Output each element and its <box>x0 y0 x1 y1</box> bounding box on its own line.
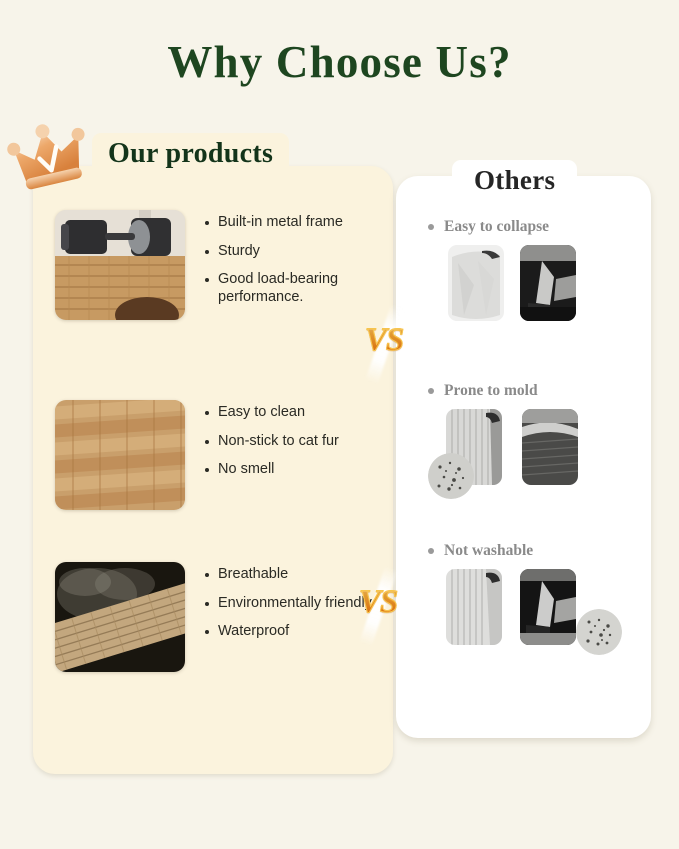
ribbed-grey-mat-photo <box>446 569 502 645</box>
our-row-2: Easy to clean Non-stick to cat fur No sm… <box>55 400 339 510</box>
list-item: Easy to clean <box>205 404 339 422</box>
other-row-2: Prone to mold <box>428 382 628 487</box>
bullet-dot <box>205 221 209 225</box>
bullet-dot <box>205 440 209 444</box>
our-row-2-bullets: Easy to clean Non-stick to cat fur No sm… <box>205 400 339 490</box>
list-item: Built-in metal frame <box>205 214 380 232</box>
list-item: Non-stick to cat fur <box>205 433 339 451</box>
other-row-1-heading: Easy to collapse <box>428 218 628 236</box>
others-banner: Others <box>452 160 577 203</box>
vs-badge-1: VS <box>352 308 416 380</box>
bullet-dot <box>205 278 209 282</box>
dark-textured-mat-photo <box>522 409 578 485</box>
bullet-dot <box>205 602 209 606</box>
bullet-dot <box>205 468 209 472</box>
our-row-1: Built-in metal frame Sturdy Good load-be… <box>55 210 380 320</box>
list-item: Good load-bearing performance. <box>205 271 380 306</box>
collapsed-dark-cube-photo <box>520 245 576 321</box>
other-row-2-heading: Prone to mold <box>428 382 628 400</box>
rattan-weave-closeup-photo <box>55 400 185 510</box>
list-item: Sturdy <box>205 243 380 261</box>
rattan-bed-with-dumbbell-photo <box>55 210 185 320</box>
dark-collapsed-cube-photo <box>520 569 576 645</box>
our-row-1-bullets: Built-in metal frame Sturdy Good load-be… <box>205 210 380 318</box>
vs-label: VS <box>346 584 410 621</box>
bullet-dot <box>205 630 209 634</box>
our-row-3: Breathable Environmentally friendly Wate… <box>55 562 372 672</box>
bullet-dot <box>205 573 209 577</box>
bullet-dot <box>428 224 434 230</box>
other-row-3-heading: Not washable <box>428 542 628 560</box>
vs-badge-2: VS <box>346 570 410 642</box>
other-row-1: Easy to collapse <box>428 218 628 323</box>
bullet-dot <box>428 548 434 554</box>
bullet-dot <box>428 388 434 394</box>
page-title: Why Choose Us? <box>0 36 679 88</box>
collapsed-fabric-bed-photo <box>448 245 504 321</box>
infographic-page: Why Choose Us? Ou <box>0 0 679 849</box>
our-products-banner: Our products <box>92 133 289 177</box>
other-row-3: Not washable <box>428 542 628 647</box>
list-item: No smell <box>205 461 339 479</box>
bullet-dot <box>205 250 209 254</box>
mold-speckle-circle <box>576 609 622 655</box>
rattan-breathable-smoke-photo <box>55 562 185 672</box>
bullet-dot <box>205 411 209 415</box>
mold-speckle-circle <box>428 453 474 499</box>
vs-label: VS <box>352 322 416 359</box>
